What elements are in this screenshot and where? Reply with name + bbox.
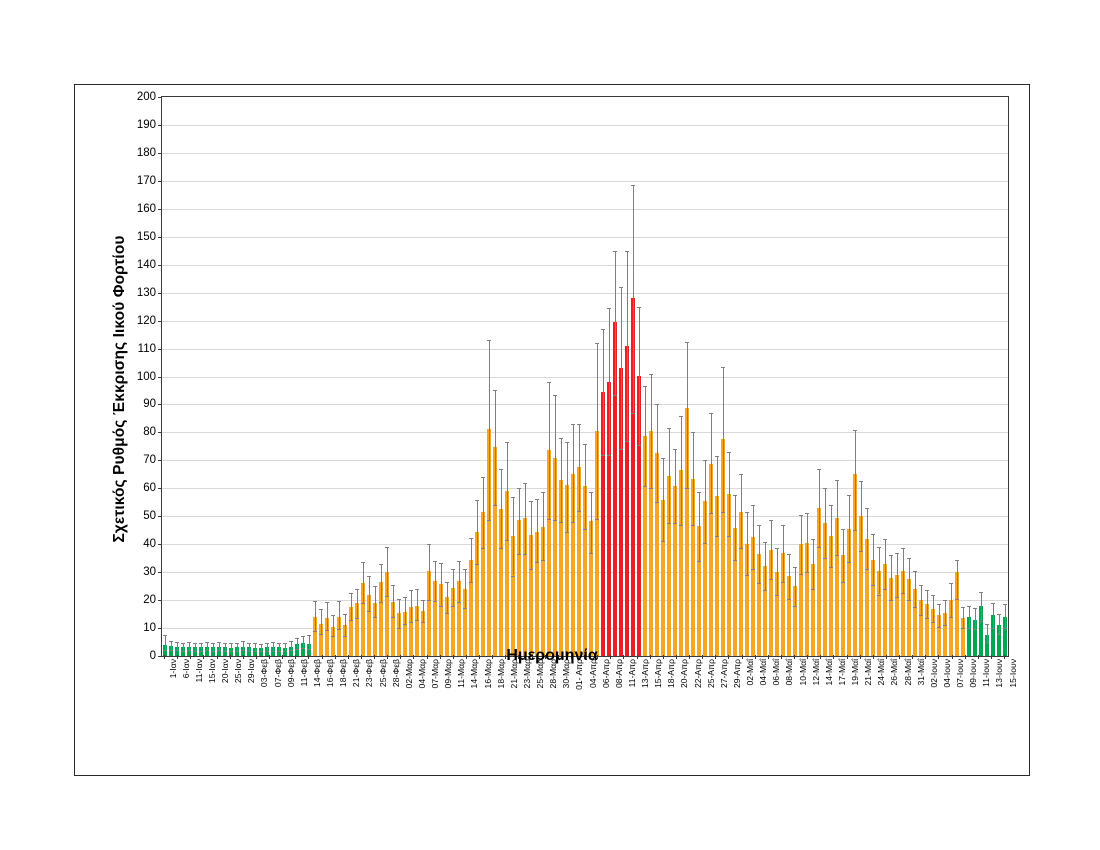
y-axis-title: Σχετικός Ρυθμός Έκκρισης Ιικού Φορτίου: [111, 129, 129, 649]
error-bar-whisker: [519, 488, 520, 554]
error-bar-cap-upper: [229, 643, 233, 644]
error-bar-whisker: [357, 589, 358, 618]
error-bar-cap-lower: [829, 567, 833, 568]
error-bar-whisker: [423, 600, 424, 622]
error-bar-whisker: [501, 469, 502, 548]
error-bar-cap-upper: [667, 428, 671, 429]
error-bar-cap-lower: [349, 620, 353, 621]
error-bar-cap-upper: [421, 600, 425, 601]
error-bar-cap-upper: [487, 340, 491, 341]
error-bar-cap-lower: [535, 562, 539, 563]
error-bar-cap-lower: [379, 602, 383, 603]
error-bar-cap-upper: [571, 424, 575, 425]
error-bar-cap-lower: [313, 631, 317, 632]
error-bar-cap-upper: [199, 643, 203, 644]
y-tick-label: 70: [143, 454, 156, 466]
error-bar-cap-upper: [727, 452, 731, 453]
error-bar-cap-lower: [1003, 628, 1007, 629]
error-bar-cap-lower: [427, 600, 431, 601]
error-bar-cap-lower: [583, 529, 587, 530]
error-bar-cap-lower: [481, 548, 485, 549]
error-bar-cap-lower: [487, 520, 491, 521]
error-bar-whisker: [567, 442, 568, 531]
error-bar-whisker: [1005, 604, 1006, 628]
error-bar-whisker: [921, 585, 922, 616]
error-bar-cap-lower: [949, 617, 953, 618]
error-bar-whisker: [939, 604, 940, 626]
error-bar-cap-lower: [691, 525, 695, 526]
error-bar-cap-lower: [877, 595, 881, 596]
error-bar-cap-upper: [163, 635, 167, 636]
error-bar-cap-upper: [823, 488, 827, 489]
error-bar-cap-upper: [577, 424, 581, 425]
error-bar-cap-upper: [619, 287, 623, 288]
error-bar-whisker: [477, 500, 478, 564]
error-bar-cap-lower: [505, 540, 509, 541]
error-bar-cap-lower: [589, 553, 593, 554]
error-bar-cap-lower: [835, 555, 839, 556]
y-tick-label: 30: [143, 566, 156, 578]
error-bar-whisker: [873, 534, 874, 584]
error-bar-cap-lower: [781, 582, 785, 583]
error-bar-cap-lower: [511, 576, 515, 577]
error-bar-cap-lower: [601, 455, 605, 456]
error-bar-cap-upper: [211, 643, 215, 644]
error-bar-cap-upper: [193, 643, 197, 644]
error-bar-whisker: [771, 520, 772, 579]
error-bar-cap-lower: [451, 606, 455, 607]
error-bar-cap-upper: [751, 505, 755, 506]
error-bar-whisker: [759, 525, 760, 584]
error-bar-cap-lower: [673, 523, 677, 524]
error-bar-whisker: [351, 593, 352, 620]
error-bar-whisker: [735, 495, 736, 559]
y-tick-label: 140: [137, 259, 156, 271]
error-bar-cap-lower: [523, 554, 527, 555]
error-bar-cap-lower: [961, 628, 965, 629]
error-bar-cap-upper: [439, 563, 443, 564]
error-bar-cap-lower: [631, 413, 635, 414]
error-bar-cap-lower: [967, 628, 971, 629]
y-tick-label: 40: [143, 538, 156, 550]
error-bar-cap-upper: [769, 520, 773, 521]
error-bar-cap-upper: [337, 601, 341, 602]
error-bar-cap-upper: [721, 367, 725, 368]
error-bar-whisker: [321, 609, 322, 634]
error-bar-whisker: [747, 512, 748, 575]
error-bar-cap-lower: [991, 628, 995, 629]
error-bar-whisker: [495, 390, 496, 505]
error-bar-whisker: [777, 548, 778, 594]
error-bar-cap-upper: [523, 483, 527, 484]
error-bar-cap-lower: [925, 618, 929, 619]
error-bar-cap-lower: [931, 622, 935, 623]
error-bar-cap-lower: [541, 560, 545, 561]
y-tick-label: 180: [137, 147, 156, 159]
error-bar-cap-lower: [661, 541, 665, 542]
error-bar-whisker: [855, 430, 856, 531]
error-bar-cap-lower: [367, 611, 371, 612]
error-bar-cap-lower: [565, 532, 569, 533]
error-bar-whisker: [963, 607, 964, 628]
error-bar-cap-upper: [943, 600, 947, 601]
y-tick-label: 110: [138, 343, 156, 355]
error-bar-whisker: [393, 585, 394, 617]
error-bar-whisker: [453, 569, 454, 605]
error-bar-cap-upper: [889, 555, 893, 556]
error-bar-cap-lower: [919, 615, 923, 616]
y-tick-label: 200: [137, 91, 156, 103]
error-bar-cap-lower: [913, 607, 917, 608]
x-axis-title: Ημερομηνία: [75, 647, 1029, 665]
error-bar-whisker: [399, 599, 400, 628]
error-bar-cap-upper: [373, 586, 377, 587]
error-bar-whisker: [381, 564, 382, 603]
error-bar-cap-lower: [469, 582, 473, 583]
error-bar-cap-upper: [961, 607, 965, 608]
y-tick-label: 100: [137, 371, 156, 383]
error-bar-whisker: [405, 597, 406, 624]
error-bar-cap-lower: [793, 606, 797, 607]
error-bar-cap-lower: [421, 622, 425, 623]
error-bar-whisker: [723, 367, 724, 512]
error-bar-whisker: [591, 492, 592, 552]
error-bar-cap-upper: [325, 602, 329, 603]
error-bar-cap-lower: [901, 593, 905, 594]
error-bar-cap-upper: [781, 525, 785, 526]
error-bar-cap-upper: [955, 560, 959, 561]
error-bar-cap-upper: [967, 606, 971, 607]
error-bar-cap-lower: [955, 599, 959, 600]
error-bar-whisker: [969, 606, 970, 628]
error-bar-cap-upper: [979, 592, 983, 593]
error-bar-cap-upper: [991, 603, 995, 604]
error-bar-cap-lower: [775, 595, 779, 596]
error-bar-cap-upper: [259, 644, 263, 645]
error-bar-cap-lower: [979, 621, 983, 622]
error-bar-cap-upper: [409, 590, 413, 591]
error-bar-cap-upper: [847, 495, 851, 496]
error-bar-cap-lower: [883, 589, 887, 590]
error-bar-cap-lower: [553, 520, 557, 521]
error-bar-cap-lower: [397, 628, 401, 629]
error-bar-whisker: [915, 571, 916, 607]
error-bar-cap-upper: [595, 343, 599, 344]
error-bar-whisker: [651, 374, 652, 489]
error-bar-cap-upper: [973, 608, 977, 609]
error-bar-cap-upper: [385, 547, 389, 548]
error-bar-whisker: [447, 582, 448, 613]
error-bar-cap-upper: [217, 642, 221, 643]
error-bar-cap-upper: [715, 456, 719, 457]
error-bar-cap-upper: [679, 416, 683, 417]
error-bar-cap-upper: [349, 593, 353, 594]
error-bar-cap-lower: [403, 624, 407, 625]
error-bar-cap-upper: [937, 604, 941, 605]
error-bar-whisker: [435, 561, 436, 602]
error-bar-whisker: [825, 488, 826, 558]
error-bar-cap-upper: [241, 641, 245, 642]
bars-layer: [162, 97, 1008, 656]
error-bar-cap-upper: [433, 561, 437, 562]
error-bar-cap-upper: [931, 595, 935, 596]
error-bar-cap-upper: [913, 571, 917, 572]
error-bar-cap-upper: [427, 544, 431, 545]
error-bar-whisker: [621, 287, 622, 449]
error-bar-whisker: [987, 624, 988, 642]
error-bar-cap-upper: [169, 641, 173, 642]
error-bar-cap-lower: [727, 536, 731, 537]
error-bar-whisker: [549, 382, 550, 519]
error-bar-cap-lower: [889, 600, 893, 601]
error-bar-cap-upper: [691, 432, 695, 433]
error-bar-whisker: [849, 495, 850, 562]
error-bar-whisker: [891, 555, 892, 600]
error-bar-cap-lower: [895, 597, 899, 598]
error-bar-cap-lower: [685, 488, 689, 489]
error-bar-whisker: [483, 477, 484, 548]
error-bar-cap-upper: [1003, 604, 1007, 605]
error-bar-cap-lower: [943, 625, 947, 626]
error-bar-whisker: [537, 499, 538, 562]
error-bar-whisker: [843, 529, 844, 582]
error-bar-cap-lower: [679, 525, 683, 526]
error-bar-whisker: [597, 343, 598, 519]
error-bar-cap-lower: [439, 606, 443, 607]
error-bar-whisker: [753, 505, 754, 569]
error-bar-cap-lower: [799, 574, 803, 575]
error-bar-cap-lower: [709, 513, 713, 514]
error-bar-cap-lower: [385, 596, 389, 597]
error-bar-whisker: [669, 428, 670, 523]
error-bar-cap-upper: [739, 474, 743, 475]
error-bar-whisker: [687, 342, 688, 489]
error-bar-cap-lower: [997, 634, 1001, 635]
error-bar-cap-upper: [223, 643, 227, 644]
error-bar-whisker: [639, 307, 640, 445]
y-tick-label: 150: [137, 231, 156, 243]
error-bar-cap-lower: [433, 601, 437, 602]
error-bar-whisker: [807, 513, 808, 572]
error-bar-cap-upper: [877, 547, 881, 548]
error-bar-cap-lower: [409, 622, 413, 623]
error-bar-cap-upper: [271, 642, 275, 643]
error-bar-whisker: [429, 544, 430, 600]
error-bar-whisker: [657, 404, 658, 502]
error-bar-cap-lower: [805, 572, 809, 573]
error-bar-cap-lower: [577, 511, 581, 512]
error-bar-cap-upper: [733, 495, 737, 496]
error-bar-cap-upper: [319, 609, 323, 610]
error-bar-cap-lower: [499, 548, 503, 549]
error-bar-cap-upper: [661, 458, 665, 459]
error-bar-cap-upper: [313, 601, 317, 602]
error-bar-cap-upper: [583, 444, 587, 445]
error-bar-cap-upper: [799, 515, 803, 516]
error-bar-cap-lower: [361, 603, 365, 604]
error-bar-cap-lower: [871, 585, 875, 586]
error-bar-cap-upper: [655, 404, 659, 405]
error-bar-whisker: [729, 452, 730, 536]
error-bar-whisker: [603, 329, 604, 455]
error-bar-whisker: [879, 547, 880, 595]
error-bar-whisker: [471, 538, 472, 582]
error-bar-cap-upper: [607, 308, 611, 309]
error-bar-whisker: [561, 438, 562, 522]
error-bar-cap-lower: [547, 519, 551, 520]
error-bar-cap-lower: [853, 530, 857, 531]
error-bar-cap-upper: [805, 513, 809, 514]
error-bar-cap-upper: [565, 442, 569, 443]
error-bar-cap-lower: [733, 560, 737, 561]
error-bar-whisker: [909, 558, 910, 600]
error-bar-cap-lower: [721, 512, 725, 513]
error-bar-cap-upper: [469, 538, 473, 539]
error-bar-cap-upper: [235, 643, 239, 644]
error-bar-whisker: [897, 553, 898, 598]
error-bar-cap-lower: [823, 558, 827, 559]
error-bar-whisker: [951, 583, 952, 617]
error-bar-cap-upper: [817, 469, 821, 470]
error-bar-cap-upper: [181, 643, 185, 644]
error-bar-cap-lower: [457, 602, 461, 603]
error-bar-cap-upper: [637, 307, 641, 308]
error-bar-cap-upper: [985, 624, 989, 625]
error-bar-whisker: [489, 340, 490, 519]
error-bar-cap-upper: [631, 185, 635, 186]
error-bar-cap-lower: [445, 613, 449, 614]
error-bar-cap-lower: [715, 536, 719, 537]
error-bar-whisker: [999, 614, 1000, 634]
error-bar-cap-upper: [175, 642, 179, 643]
y-tick-label: 20: [143, 594, 156, 606]
error-bar-cap-upper: [925, 590, 929, 591]
error-bar-cap-lower: [607, 455, 611, 456]
error-bar-cap-lower: [787, 599, 791, 600]
error-bar-cap-upper: [829, 505, 833, 506]
error-bar-cap-upper: [685, 342, 689, 343]
error-bar-cap-upper: [793, 567, 797, 568]
error-bar-cap-lower: [337, 629, 341, 630]
error-bar-cap-lower: [937, 627, 941, 628]
error-bar-cap-lower: [331, 636, 335, 637]
error-bar-cap-upper: [451, 569, 455, 570]
error-bar-whisker: [975, 608, 976, 629]
error-bar-cap-upper: [505, 442, 509, 443]
error-bar-cap-upper: [301, 636, 305, 637]
error-bar-cap-lower: [859, 551, 863, 552]
error-bar-whisker: [801, 515, 802, 574]
error-bar-whisker: [693, 432, 694, 524]
error-bar-cap-upper: [529, 501, 533, 502]
error-bar-whisker: [783, 525, 784, 582]
error-bar-cap-upper: [787, 554, 791, 555]
error-bar-cap-upper: [463, 569, 467, 570]
error-bar-cap-upper: [475, 500, 479, 501]
error-bar-whisker: [741, 474, 742, 548]
error-bar-cap-lower: [985, 642, 989, 643]
error-bar-cap-upper: [589, 492, 593, 493]
error-bar-cap-lower: [529, 569, 533, 570]
error-bar-cap-upper: [745, 512, 749, 513]
error-bar-whisker: [363, 562, 364, 603]
error-bar-cap-lower: [325, 630, 329, 631]
x-axis-ticks: 1-Ιαν6-Ιαν11-Ιαν15-Ιαν20-Ιαν25-Ιαν29-Ιαν…: [161, 659, 1009, 739]
error-bar-whisker: [609, 308, 610, 455]
error-bar-cap-upper: [367, 576, 371, 577]
error-bar-cap-upper: [559, 438, 563, 439]
error-bar-whisker: [579, 424, 580, 511]
error-bar-whisker: [417, 589, 418, 620]
error-bar-cap-upper: [901, 548, 905, 549]
error-bar-whisker: [411, 590, 412, 622]
error-bar-cap-lower: [415, 620, 419, 621]
error-bar-cap-upper: [757, 525, 761, 526]
y-tick-label: 10: [143, 622, 156, 634]
error-bar-whisker: [375, 586, 376, 617]
error-bar-cap-upper: [283, 643, 287, 644]
error-bar-cap-upper: [541, 492, 545, 493]
error-bar-cap-lower: [841, 582, 845, 583]
error-bar-cap-upper: [613, 251, 617, 252]
error-bar-cap-lower: [811, 589, 815, 590]
chart-frame: Σχετικός Ρυθμός Έκκρισης Ιικού Φορτίου 0…: [74, 84, 1030, 776]
error-bar-cap-upper: [379, 564, 383, 565]
error-bar-whisker: [705, 460, 706, 542]
error-bar-whisker: [369, 576, 370, 611]
error-bar-whisker: [531, 501, 532, 569]
error-bar-cap-upper: [865, 508, 869, 509]
error-bar-whisker: [459, 561, 460, 602]
error-bar-cap-upper: [553, 395, 557, 396]
error-bar-cap-lower: [769, 579, 773, 580]
error-bar-cap-lower: [391, 617, 395, 618]
error-bar-cap-lower: [373, 617, 377, 618]
error-bar-cap-upper: [883, 539, 887, 540]
error-bar-whisker: [525, 483, 526, 554]
error-bar-cap-upper: [391, 585, 395, 586]
error-bar-cap-upper: [397, 599, 401, 600]
error-bar-cap-lower: [619, 449, 623, 450]
error-bar-cap-lower: [847, 562, 851, 563]
error-bar-cap-lower: [517, 554, 521, 555]
error-bar-cap-upper: [841, 529, 845, 530]
error-bar-whisker: [387, 547, 388, 596]
error-bar-cap-upper: [649, 374, 653, 375]
error-bar-cap-lower: [751, 569, 755, 570]
error-bar-cap-upper: [949, 583, 953, 584]
error-bar-whisker: [333, 615, 334, 636]
chart-page: Σχετικός Ρυθμός Έκκρισης Ιικού Φορτίου 0…: [0, 0, 1100, 850]
error-bar-cap-upper: [343, 614, 347, 615]
error-bar-whisker: [981, 592, 982, 621]
error-bar-cap-upper: [457, 561, 461, 562]
y-tick-label: 190: [137, 119, 156, 131]
error-bar-whisker: [699, 492, 700, 560]
error-bar-cap-upper: [625, 251, 629, 252]
error-bar-whisker: [831, 505, 832, 566]
error-bar-whisker: [315, 601, 316, 630]
error-bar-cap-lower: [865, 569, 869, 570]
error-bar-cap-lower: [319, 634, 323, 635]
error-bar-whisker: [441, 563, 442, 605]
error-bar-whisker: [615, 251, 616, 395]
error-bar-whisker: [933, 595, 934, 623]
error-bar-cap-upper: [835, 480, 839, 481]
error-bar-cap-lower: [739, 548, 743, 549]
y-tick-label: 160: [137, 203, 156, 215]
error-bar-cap-upper: [265, 643, 269, 644]
